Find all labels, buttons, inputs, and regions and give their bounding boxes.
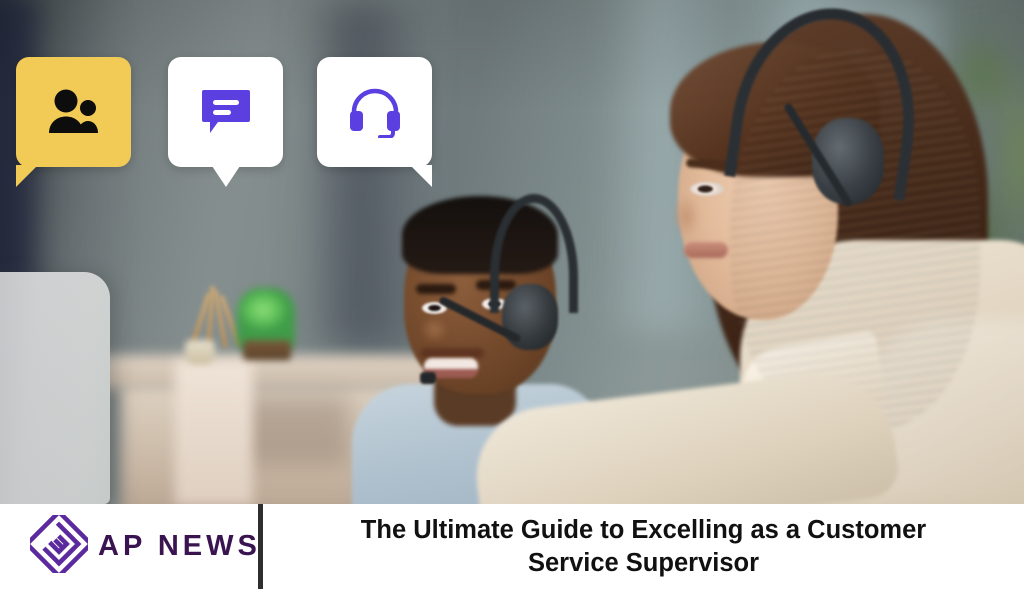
- badge-tail: [410, 165, 432, 187]
- brand-block[interactable]: AP NEWS: [0, 504, 258, 589]
- headset-icon: [347, 86, 403, 138]
- hero-photo: [0, 0, 1024, 504]
- badge-tail: [210, 163, 242, 187]
- badge-people[interactable]: [16, 57, 131, 167]
- brand-name: AP NEWS: [98, 532, 261, 561]
- ap-news-spiral-diamond-logo-icon: [30, 515, 88, 578]
- badge-headset[interactable]: [317, 57, 432, 167]
- people-icon: [46, 89, 102, 135]
- chat-bubble-icon: [200, 87, 252, 137]
- badge-group: [0, 0, 1024, 504]
- badge-chat[interactable]: [168, 57, 283, 167]
- headline-wrap: The Ultimate Guide to Excelling as a Cus…: [263, 504, 1024, 589]
- article-card: AP NEWS The Ultimate Guide to Excelling …: [0, 0, 1024, 589]
- article-headline: The Ultimate Guide to Excelling as a Cus…: [324, 514, 964, 578]
- badge-tail: [16, 165, 38, 187]
- footer-bar: AP NEWS The Ultimate Guide to Excelling …: [0, 504, 1024, 589]
